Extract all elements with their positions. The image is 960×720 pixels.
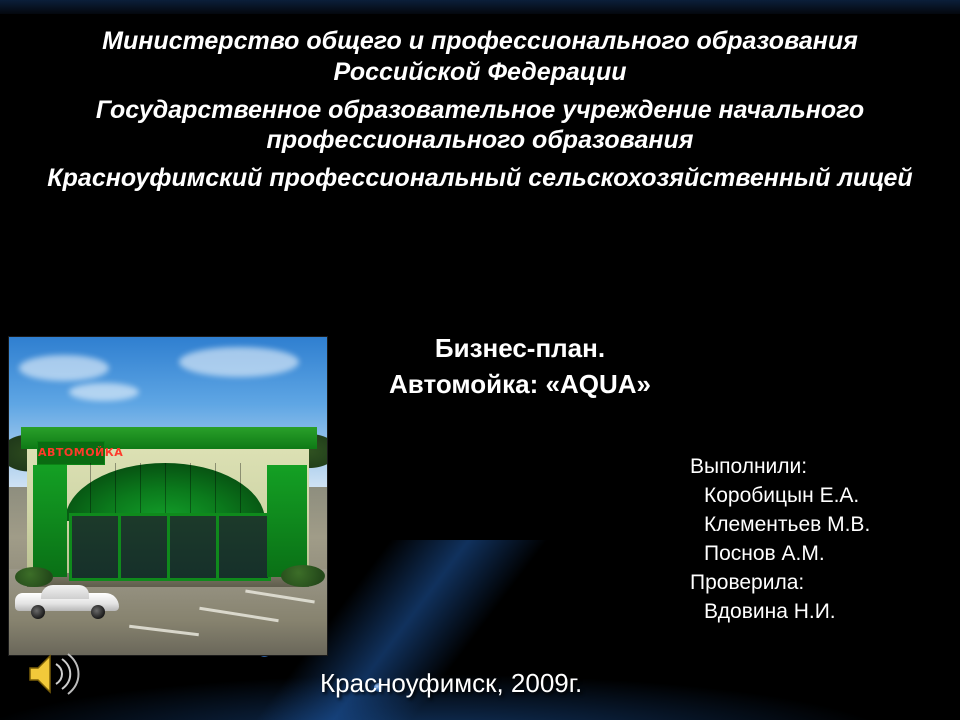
heading-line-3: Государственное образовательное учрежден… bbox=[40, 95, 920, 155]
car-wash-building-photo: АВТОМОЙКА bbox=[8, 336, 328, 656]
reviewer-name: Вдовина Н.И. bbox=[690, 597, 952, 626]
title-line-2: Автомойка: «AQUA» bbox=[330, 366, 710, 402]
background-top-band bbox=[0, 0, 960, 14]
photo-cloud bbox=[179, 347, 299, 377]
photo-car-wheel bbox=[31, 605, 45, 619]
author-name-3: Поснов А.М. bbox=[690, 539, 952, 568]
heading-line-4: Красноуфимский профессиональный сельскох… bbox=[40, 163, 920, 193]
photo-car-cabin bbox=[41, 585, 89, 599]
slide-title: Бизнес-план. Автомойка: «AQUA» bbox=[330, 330, 710, 402]
photo-window-mullion bbox=[167, 516, 170, 578]
photo-window-mullion bbox=[118, 516, 121, 578]
photo-side-panel-left bbox=[33, 465, 67, 577]
photo-signboard-text: АВТОМОЙКА bbox=[38, 442, 104, 464]
photo-bush bbox=[281, 565, 325, 587]
photo-cloud bbox=[69, 383, 139, 401]
photo-windows bbox=[69, 513, 271, 581]
authors-label-checked-by: Проверила: bbox=[690, 568, 952, 597]
slide-footer-place-year: Красноуфимск, 2009г. bbox=[320, 668, 582, 699]
authors-block: Выполнили: Коробицын Е.А. Клементьев М.В… bbox=[690, 452, 952, 626]
presentation-slide: Министерство общего и профессионального … bbox=[0, 0, 960, 720]
photo-window-mullion bbox=[216, 516, 219, 578]
photo-cloud bbox=[19, 355, 109, 381]
photo-side-panel-right bbox=[267, 465, 307, 577]
heading-line-1: Министерство общего и профессионального … bbox=[40, 26, 920, 56]
heading-line-2: Российской Федерации bbox=[40, 57, 920, 87]
photo-car-wheel bbox=[91, 605, 105, 619]
slide-heading: Министерство общего и профессионального … bbox=[40, 26, 920, 194]
speaker-icon[interactable] bbox=[24, 650, 82, 698]
author-name-2: Клементьев М.В. bbox=[690, 510, 952, 539]
photo-car bbox=[15, 583, 119, 617]
photo-signboard: АВТОМОЙКА bbox=[37, 441, 105, 465]
author-name-1: Коробицын Е.А. bbox=[690, 481, 952, 510]
authors-label-performed-by: Выполнили: bbox=[690, 452, 952, 481]
title-line-1: Бизнес-план. bbox=[330, 330, 710, 366]
